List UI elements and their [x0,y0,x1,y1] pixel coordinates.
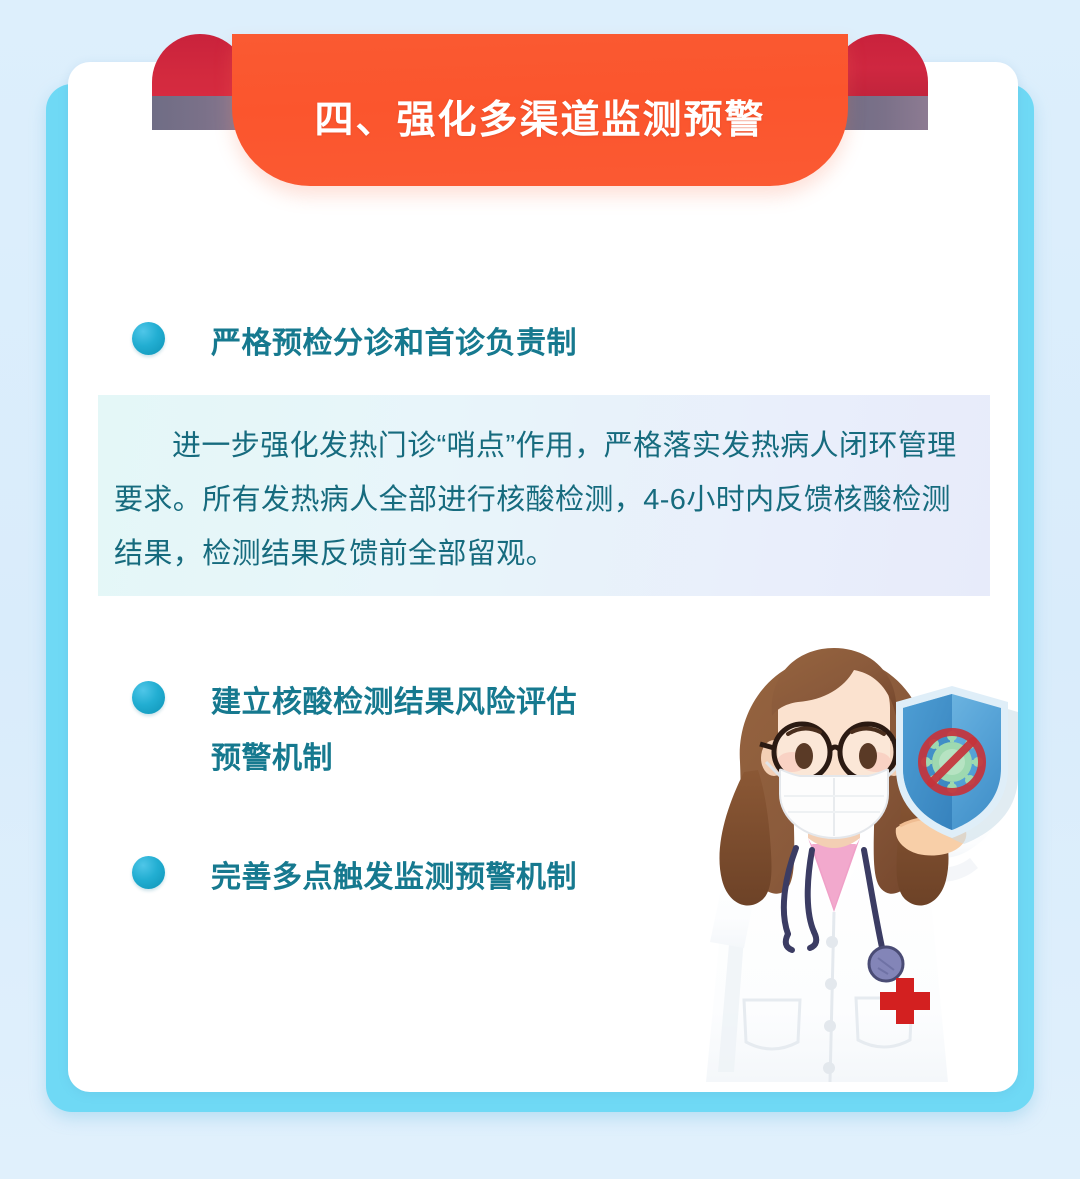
section-heading-3: 完善多点触发监测预警机制 [211,850,577,906]
bullet-dot-icon [132,681,165,714]
section-heading-2: 建立核酸检测结果风险评估预警机制 [211,675,602,787]
section-heading-1: 严格预检分诊和首诊负责制 [211,316,577,372]
infographic-stage: 进一步强化发热门诊“哨点”作用，严格落实发热病人闭环管理要求。所有发热病人全部进… [0,0,1080,1179]
section-item-3: 完善多点触发监测预警机制 [132,850,577,906]
bullet-dot-icon [132,322,165,355]
paragraph-text: 进一步强化发热门诊“哨点”作用，严格落实发热病人闭环管理要求。所有发热病人全部进… [114,419,976,581]
section-item-2: 建立核酸检测结果风险评估预警机制 [132,675,602,787]
bullet-dot-icon [132,856,165,889]
doctor-illustration [648,612,1018,1092]
content-card: 进一步强化发热门诊“哨点”作用，严格落实发热病人闭环管理要求。所有发热病人全部进… [68,62,1018,1092]
paragraph-panel: 进一步强化发热门诊“哨点”作用，严格落实发热病人闭环管理要求。所有发热病人全部进… [98,395,990,596]
section-item-1: 严格预检分诊和首诊负责制 [132,316,577,372]
